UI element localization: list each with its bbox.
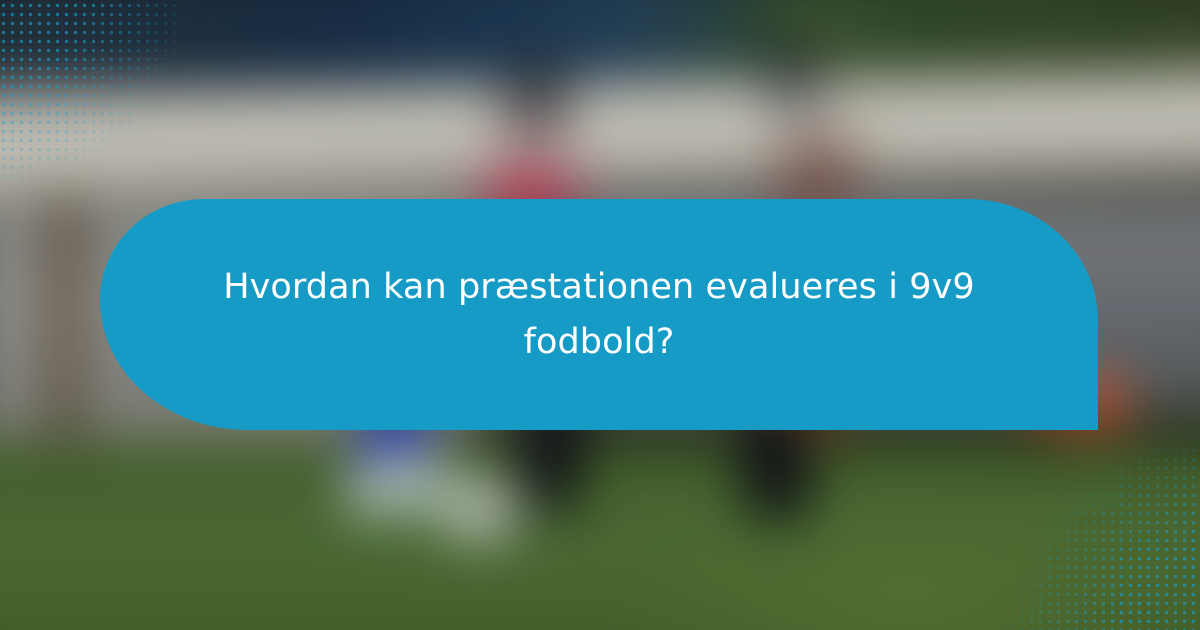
question-card: Hvordan kan præstationen evalueres i 9v9… [0,0,1200,630]
halftone-dots-bottom-right-icon [1018,446,1200,630]
headline-banner: Hvordan kan præstationen evalueres i 9v9… [100,199,1098,430]
page-title: Hvordan kan præstationen evalueres i 9v9… [219,260,979,369]
halftone-dots-top-left-icon [0,0,182,184]
